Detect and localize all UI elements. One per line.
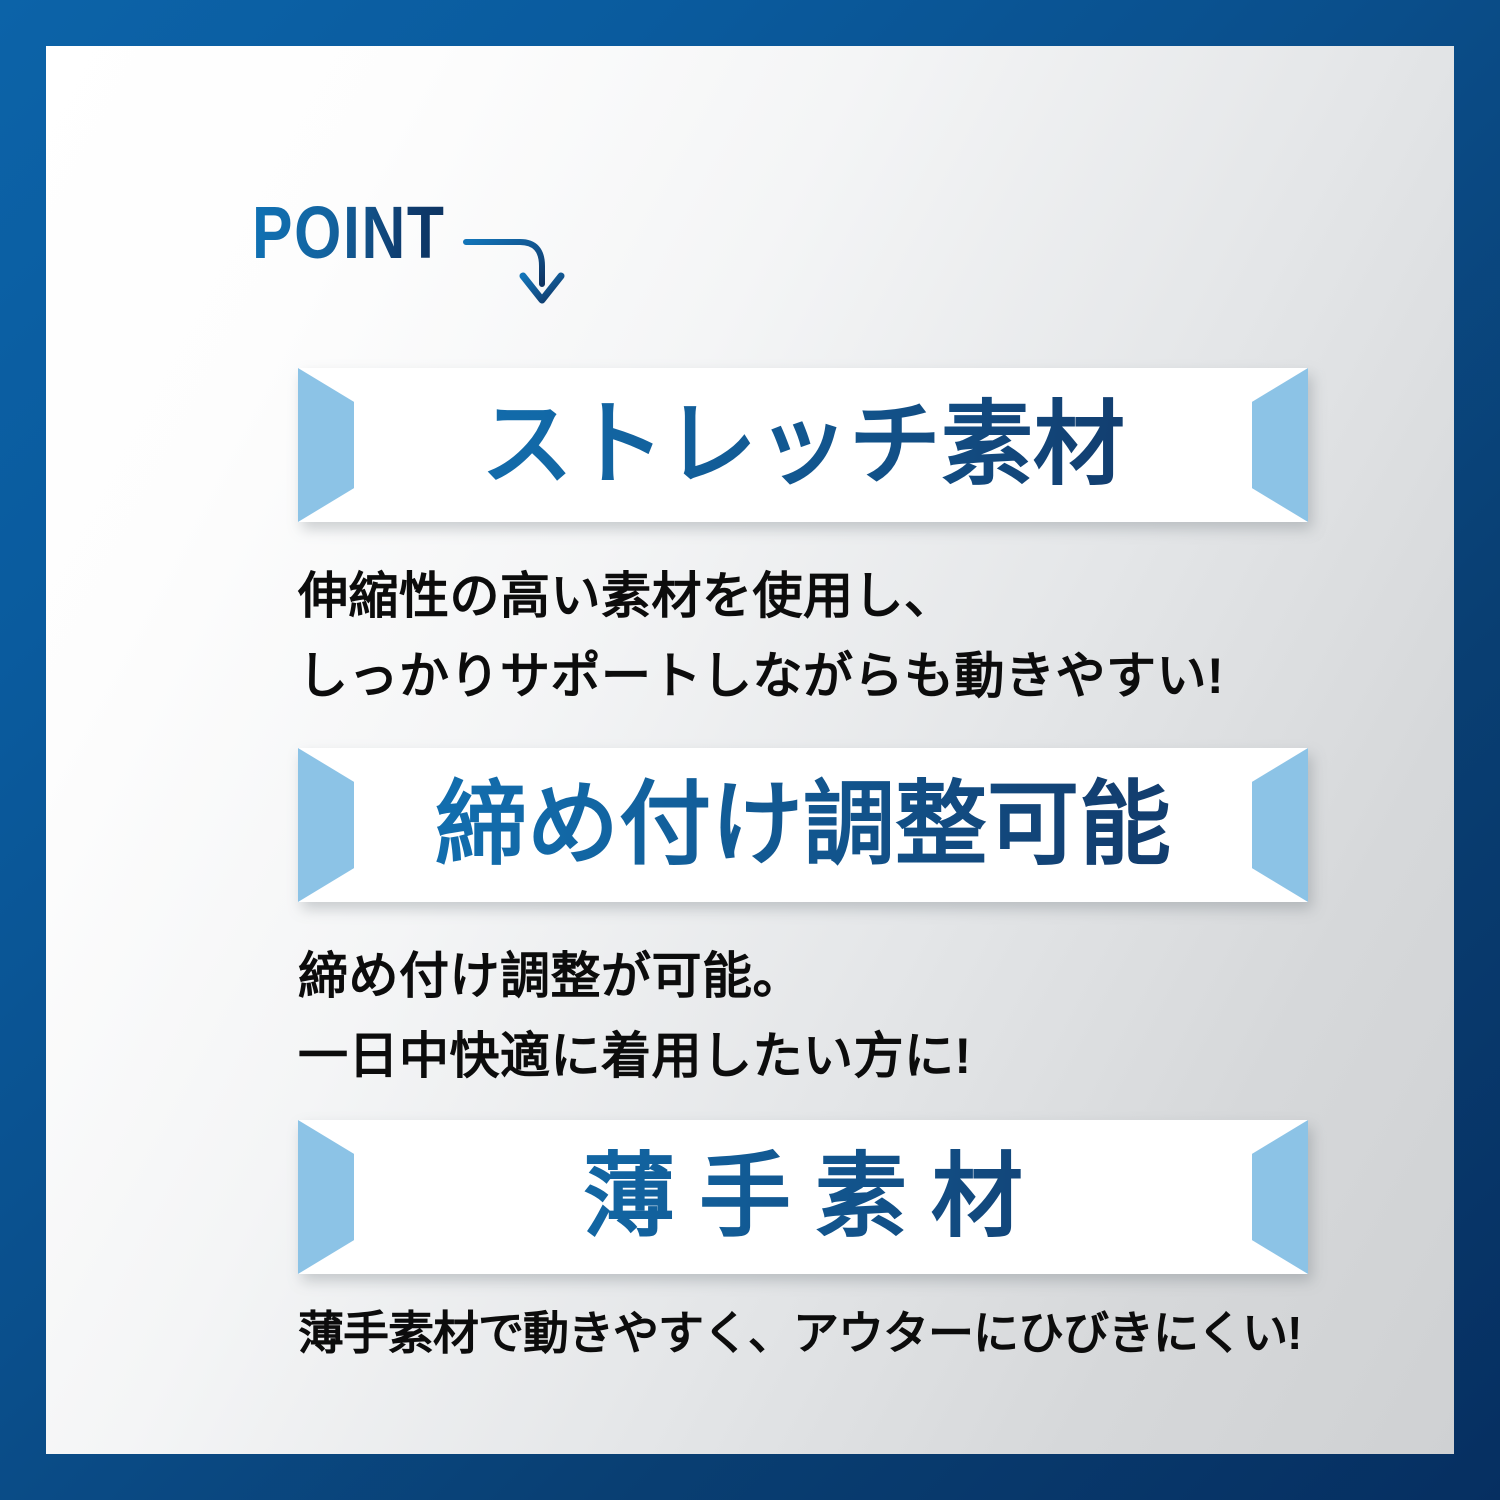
point-label: POINT [252,196,446,270]
content-canvas: POINT ストレッ [46,46,1454,1454]
infographic-page: POINT ストレッ [0,0,1500,1500]
feature-ribbon-2: 締め付け調整可能 [298,748,1308,902]
feature-description-3: 薄手素材で動きやすく、アウターにひびきにくい! [298,1304,1301,1362]
feature-description-2: 締め付け調整が可能。 一日中快適に着用したい方に! [298,936,972,1096]
curved-arrow-down-icon [460,224,580,319]
feature-ribbon-1: ストレッチ素材 [298,368,1308,522]
point-heading: POINT [252,196,580,319]
feature-title-3: 薄手素材 [298,1120,1308,1274]
feature-ribbon-3: 薄手素材 [298,1120,1308,1274]
feature-title-2: 締め付け調整可能 [298,748,1308,902]
feature-title-1: ストレッチ素材 [298,368,1308,522]
feature-description-1: 伸縮性の高い素材を使用し、 しっかりサポートしながらも動きやすい! [298,556,1224,716]
